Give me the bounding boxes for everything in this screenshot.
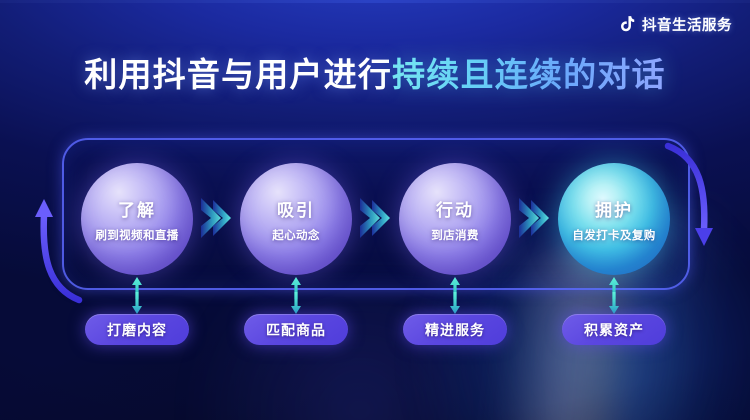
action-pill-1[interactable]: 打磨内容 — [85, 314, 189, 345]
stage-subtitle-3: 到店消费 — [431, 227, 479, 243]
douyin-note-icon — [618, 15, 635, 34]
brand-logo-text: 抖音生活服务 — [642, 14, 732, 35]
stage-sphere-2[interactable]: 吸引 起心动念 — [240, 163, 352, 275]
stage-sphere-3[interactable]: 行动 到店消费 — [399, 163, 511, 275]
stage-title-1: 了解 — [118, 196, 156, 221]
stage-subtitle-4: 自发打卡及复购 — [572, 227, 655, 243]
down-arrow-icon-3 — [449, 292, 461, 314]
stage-title-4: 拥护 — [595, 196, 633, 221]
page-title-highlight: 持续且连续的对话 — [392, 55, 666, 94]
down-arrow-icon-4 — [608, 292, 620, 314]
stage-sphere-1[interactable]: 了解 刷到视频和直播 — [81, 163, 193, 275]
action-pill-label-2: 匹配商品 — [266, 320, 326, 340]
stage-sphere-4[interactable]: 拥护 自发打卡及复购 — [558, 163, 670, 275]
page-title: 利用抖音与用户进行持续且连续的对话 — [0, 48, 750, 96]
page-title-primary: 利用抖音与用户进行 — [84, 55, 392, 94]
brand-logo: 抖音生活服务 — [618, 14, 732, 35]
stage-subtitle-1: 刷到视频和直播 — [95, 227, 178, 243]
stage-subtitle-2: 起心动念 — [272, 227, 320, 243]
action-pill-label-1: 打磨内容 — [107, 320, 167, 340]
action-pill-2[interactable]: 匹配商品 — [244, 314, 348, 345]
stage-title-3: 行动 — [436, 196, 474, 221]
action-pill-4[interactable]: 积累资产 — [562, 314, 666, 345]
action-pill-label-3: 精进服务 — [425, 320, 485, 340]
double-chevron-right-icon-2 — [358, 196, 392, 240]
action-pill-label-4: 积累资产 — [584, 320, 644, 340]
slide-canvas: 抖音生活服务 利用抖音与用户进行持续且连续的对话 — [0, 0, 750, 420]
action-pill-3[interactable]: 精进服务 — [403, 314, 507, 345]
down-arrow-icon-2 — [290, 292, 302, 314]
stage-title-2: 吸引 — [277, 196, 315, 221]
double-chevron-right-icon-1 — [199, 196, 233, 240]
double-chevron-right-icon-3 — [517, 196, 551, 240]
down-arrow-icon-1 — [131, 292, 143, 314]
